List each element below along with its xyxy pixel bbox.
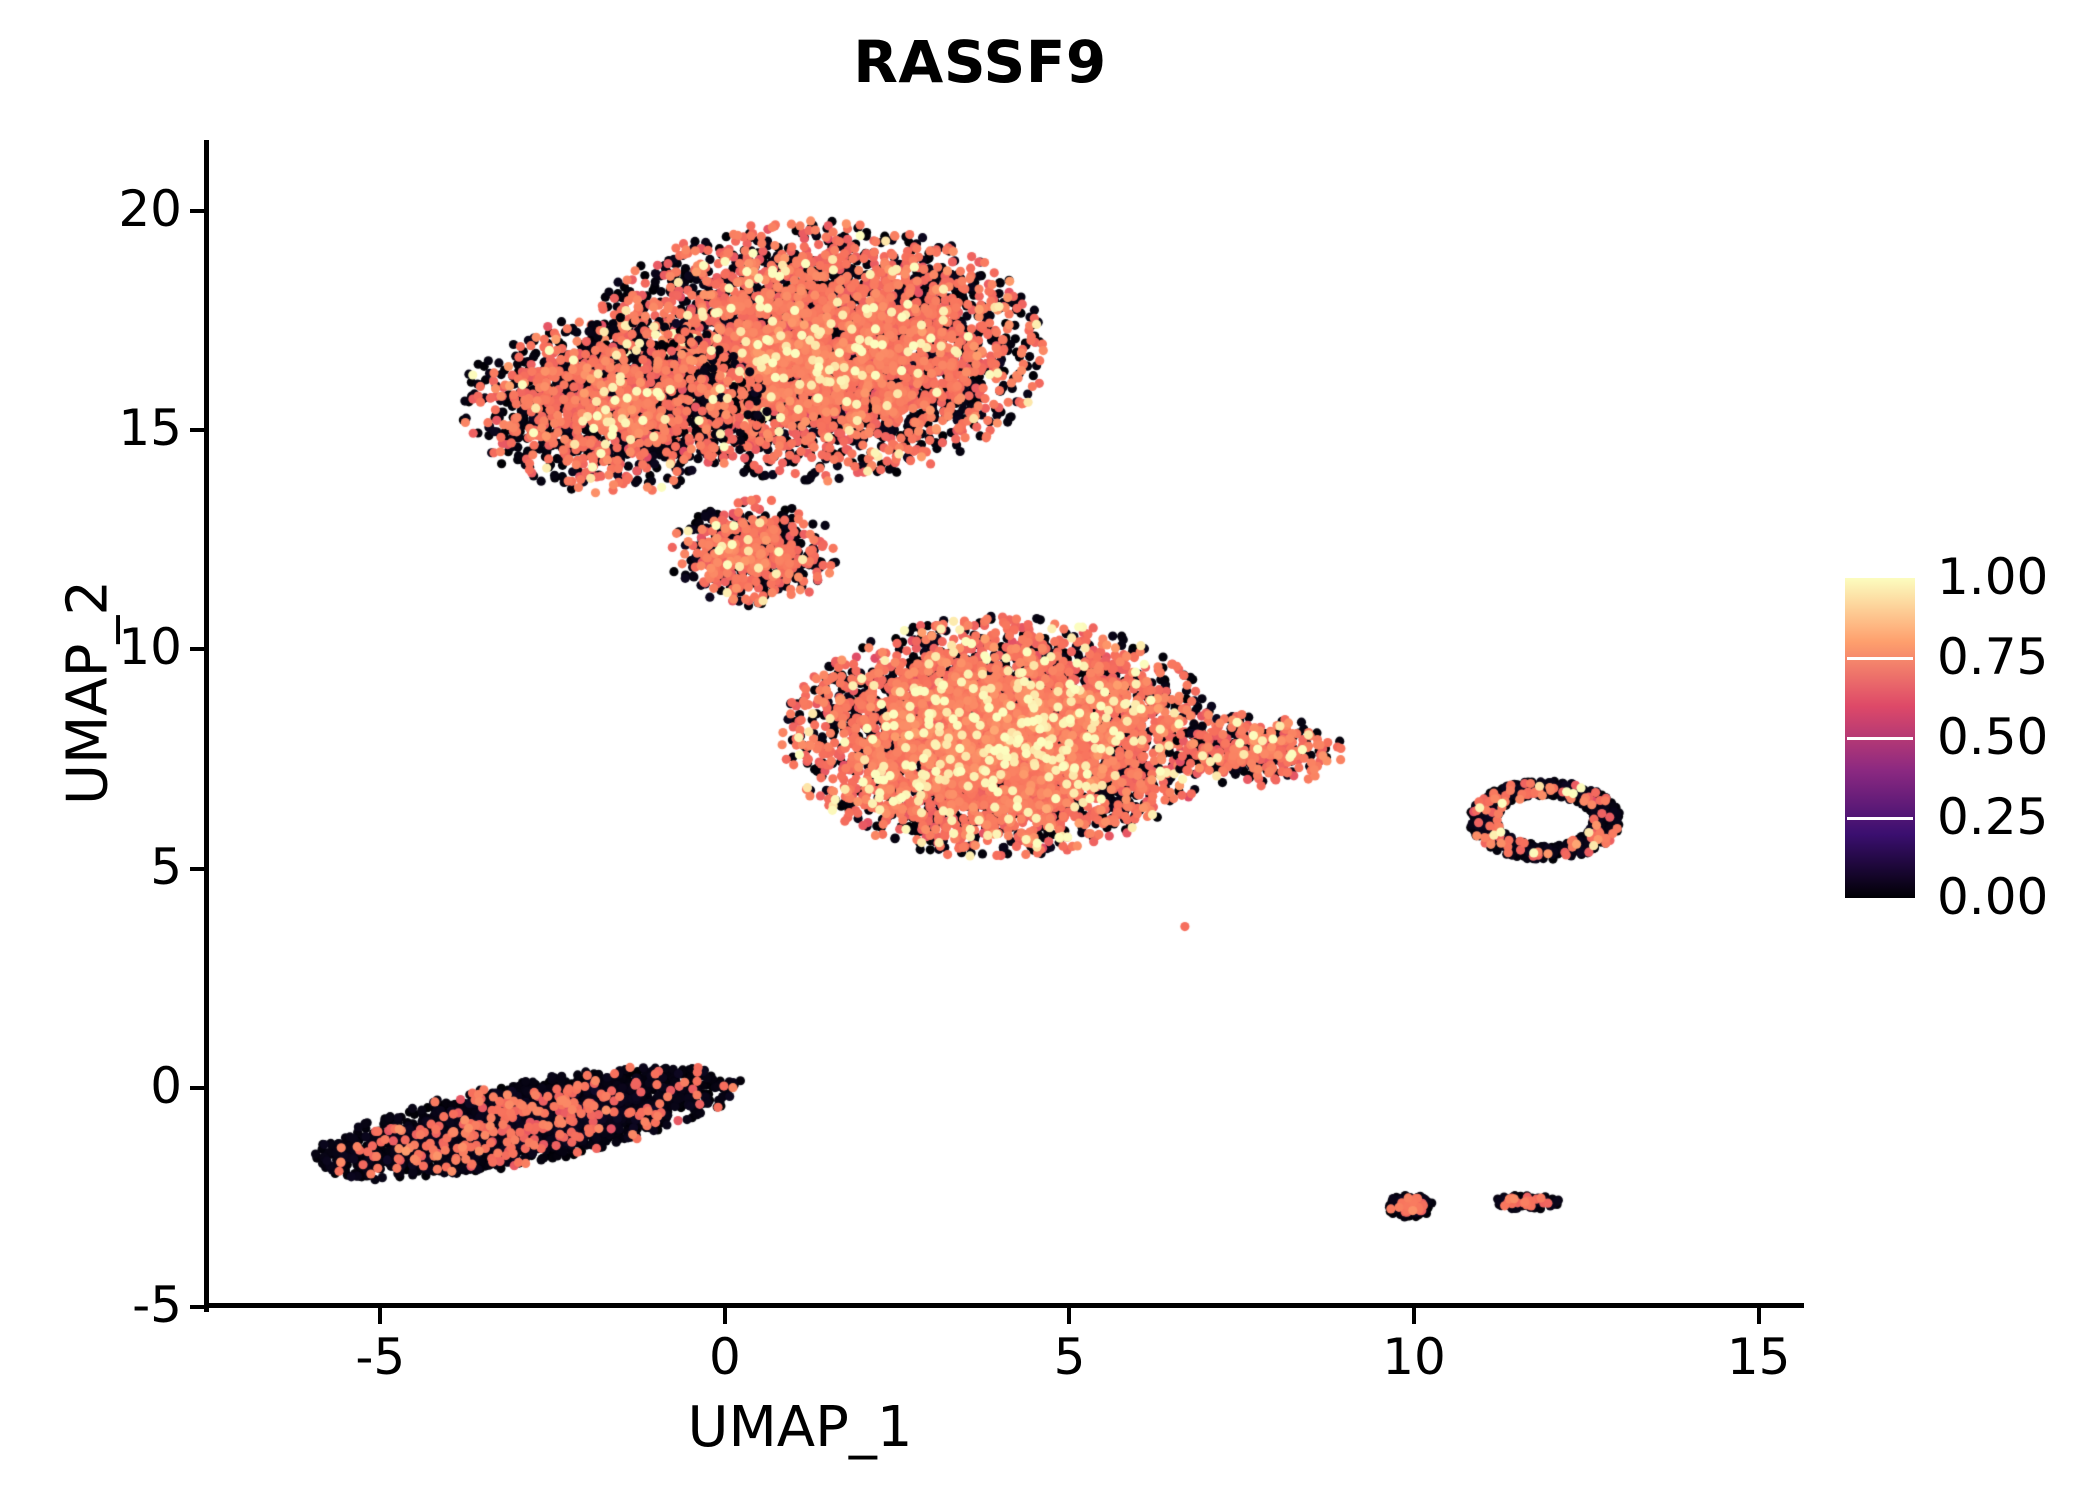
y-tick-mark xyxy=(190,1305,206,1309)
colorbar-label: 1.00 xyxy=(1937,552,2048,602)
x-tick-label: 15 xyxy=(1679,1332,1839,1382)
umap-figure: RASSF9 20151050-5 -5051015 UMAP_1 UMAP_2… xyxy=(0,0,2100,1500)
x-tick-mark xyxy=(1067,1308,1071,1324)
colorbar-label: 0.00 xyxy=(1937,872,2048,922)
x-axis-title: UMAP_1 xyxy=(400,1395,1200,1460)
colorbar: 1.000.750.500.250.00 xyxy=(1845,578,2095,903)
y-axis-title: UMAP_2 xyxy=(56,373,121,1013)
x-tick-label: 5 xyxy=(989,1332,1149,1382)
x-tick-label: -5 xyxy=(300,1332,460,1382)
y-tick-mark xyxy=(190,867,206,871)
x-tick-mark xyxy=(723,1308,727,1324)
x-tick-mark xyxy=(1757,1308,1761,1324)
colorbar-tick-mark xyxy=(1847,657,1913,660)
y-tick-mark xyxy=(190,1086,206,1090)
x-tick-mark xyxy=(378,1308,382,1324)
colorbar-tick-mark xyxy=(1847,817,1913,820)
y-tick-mark xyxy=(190,209,206,213)
colorbar-label: 0.50 xyxy=(1937,712,2048,762)
colorbar-tick-mark xyxy=(1847,737,1913,740)
x-tick-label: 0 xyxy=(645,1332,805,1382)
y-tick-label: 20 xyxy=(0,184,182,234)
page-title: RASSF9 xyxy=(0,28,1960,96)
colorbar-label: 0.75 xyxy=(1937,632,2048,682)
x-tick-mark xyxy=(1412,1308,1416,1324)
colorbar-label: 0.25 xyxy=(1937,792,2048,842)
y-tick-mark xyxy=(190,647,206,651)
y-tick-mark xyxy=(190,428,206,432)
y-tick-label: -5 xyxy=(0,1280,182,1330)
y-tick-label: 0 xyxy=(0,1061,182,1111)
scatter-points-canvas xyxy=(208,145,1800,1307)
x-tick-label: 10 xyxy=(1334,1332,1494,1382)
scatter-plot-area xyxy=(208,145,1800,1307)
